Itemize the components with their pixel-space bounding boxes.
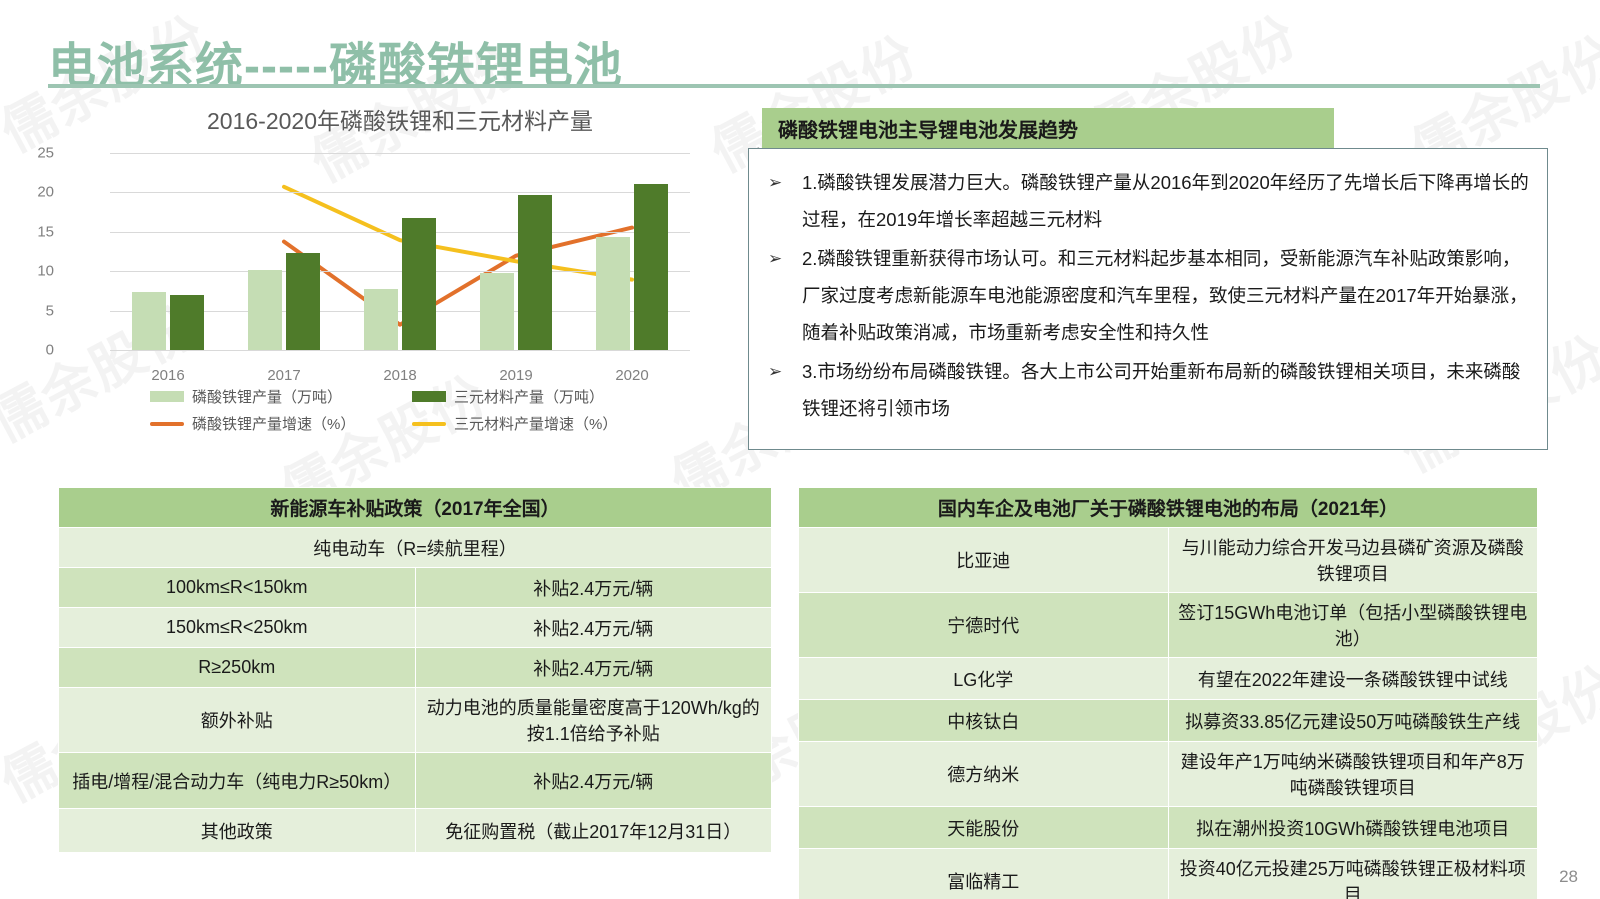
bullet-arrow-icon: ➢ — [762, 240, 802, 277]
legend-label: 三元材料产量（万吨） — [454, 386, 604, 407]
trend-bullet-text: 2.磷酸铁锂重新获得市场认可。和三元材料起步基本相同，受新能源汽车补贴政策影响，… — [802, 240, 1534, 351]
table-row: 其他政策免征购置税（截止2017年12月31日） — [59, 809, 772, 853]
policy-value-cell: 动力电池的质量能量密度高于120Wh/kg的按1.1倍给予补贴 — [415, 688, 772, 753]
table-row: 宁德时代签订15GWh电池订单（包括小型磷酸铁锂电池） — [799, 593, 1538, 658]
company-detail-cell: 投资40亿元投建25万吨磷酸铁锂正极材料项目 — [1168, 849, 1538, 899]
chart-bar — [132, 292, 166, 350]
chart-line — [284, 187, 632, 280]
trend-textbox-header: 磷酸铁锂电池主导锂电池发展趋势 — [762, 108, 1334, 148]
company-name-cell: LG化学 — [799, 658, 1169, 700]
chart-title: 2016-2020年磷酸铁锂和三元材料产量 — [120, 102, 680, 136]
trend-bullet: ➢2.磷酸铁锂重新获得市场认可。和三元材料起步基本相同，受新能源汽车补贴政策影响… — [762, 240, 1534, 351]
table-row: 插电/增程/混合动力车（纯电力R≥50km）补贴2.4万元/辆 — [59, 753, 772, 809]
company-detail-cell: 拟募资33.85亿元建设50万吨磷酸铁生产线 — [1168, 700, 1538, 742]
table-row: 100km≤R<150km补贴2.4万元/辆 — [59, 568, 772, 608]
trend-bullet-text: 3.市场纷纷布局磷酸铁锂。各大上市公司开始重新布局新的磷酸铁锂相关项目，未来磷酸… — [802, 353, 1534, 427]
table-row: R≥250km补贴2.4万元/辆 — [59, 648, 772, 688]
page-number: 28 — [1559, 867, 1578, 887]
lfp-layout-table: 国内车企及电池厂关于磷酸铁锂电池的布局（2021年）比亚迪与川能动力综合开发马边… — [798, 487, 1538, 899]
company-name-cell: 富临精工 — [799, 849, 1169, 899]
trend-bullet: ➢3.市场纷纷布局磷酸铁锂。各大上市公司开始重新布局新的磷酸铁锂相关项目，未来磷… — [762, 353, 1534, 427]
chart-bar — [634, 184, 668, 350]
company-name-cell: 宁德时代 — [799, 593, 1169, 658]
legend-swatch-icon — [412, 391, 446, 402]
subsidy-policy-table: 新能源车补贴政策（2017年全国）纯电动车（R=续航里程）100km≤R<150… — [58, 487, 772, 853]
chart-gridline — [110, 232, 690, 233]
table-row: 中核钛白拟募资33.85亿元建设50万吨磷酸铁生产线 — [799, 700, 1538, 742]
title-underline — [48, 84, 1540, 88]
legend-item[interactable]: 三元材料产量（万吨） — [412, 386, 662, 407]
legend-item[interactable]: 三元材料产量增速（%） — [412, 413, 662, 434]
company-detail-cell: 签订15GWh电池订单（包括小型磷酸铁锂电池） — [1168, 593, 1538, 658]
policy-label-cell: R≥250km — [59, 648, 416, 688]
legend-item[interactable]: 磷酸铁锂产量（万吨） — [150, 386, 400, 407]
company-detail-cell: 拟在潮州投资10GWh磷酸铁锂电池项目 — [1168, 807, 1538, 849]
chart-legend: 磷酸铁锂产量（万吨）三元材料产量（万吨）磷酸铁锂产量增速（%）三元材料产量增速（… — [150, 386, 670, 434]
chart-bar — [402, 218, 436, 350]
trend-bullet: ➢1.磷酸铁锂发展潜力巨大。磷酸铁锂产量从2016年到2020年经历了先增长后下… — [762, 164, 1534, 238]
x-axis-tick: 2016 — [151, 367, 184, 384]
y-axis-tick-left: 20 — [37, 184, 54, 201]
y-axis-tick-left: 15 — [37, 223, 54, 240]
company-name-cell: 天能股份 — [799, 807, 1169, 849]
bullet-arrow-icon: ➢ — [762, 353, 802, 390]
policy-value-cell: 补贴2.4万元/辆 — [415, 648, 772, 688]
table-right-title: 国内车企及电池厂关于磷酸铁锂电池的布局（2021年） — [799, 488, 1538, 528]
legend-swatch-icon — [150, 391, 184, 402]
policy-label-cell: 插电/增程/混合动力车（纯电力R≥50km） — [59, 753, 416, 809]
chart-bar — [480, 273, 514, 350]
table-row: 新能源车补贴政策（2017年全国） — [59, 488, 772, 528]
y-axis-tick-left: 0 — [46, 342, 54, 359]
y-axis-tick-left: 5 — [46, 302, 54, 319]
trend-textbox-body: ➢1.磷酸铁锂发展潜力巨大。磷酸铁锂产量从2016年到2020年经历了先增长后下… — [762, 164, 1534, 429]
table-row: 富临精工投资40亿元投建25万吨磷酸铁锂正极材料项目 — [799, 849, 1538, 899]
chart-bar — [286, 253, 320, 350]
table-row: 纯电动车（R=续航里程） — [59, 528, 772, 568]
table-row: 额外补贴动力电池的质量能量密度高于120Wh/kg的按1.1倍给予补贴 — [59, 688, 772, 753]
policy-value-cell: 补贴2.4万元/辆 — [415, 753, 772, 809]
table-row: 天能股份拟在潮州投资10GWh磷酸铁锂电池项目 — [799, 807, 1538, 849]
company-name-cell: 德方纳米 — [799, 742, 1169, 807]
x-axis-tick: 2017 — [267, 367, 300, 384]
y-axis-tick-left: 10 — [37, 263, 54, 280]
chart-bar — [248, 270, 282, 350]
table-row: 比亚迪与川能动力综合开发马边县磷矿资源及磷酸铁锂项目 — [799, 528, 1538, 593]
table-row: 150km≤R<250km补贴2.4万元/辆 — [59, 608, 772, 648]
policy-label-cell: 额外补贴 — [59, 688, 416, 753]
policy-value-cell: 补贴2.4万元/辆 — [415, 568, 772, 608]
x-axis-tick: 2019 — [499, 367, 532, 384]
policy-label-cell: 100km≤R<150km — [59, 568, 416, 608]
chart-plot-area: 0510152025-0.4-0.200.20.40.60.8120162017… — [110, 153, 690, 350]
trend-bullet-text: 1.磷酸铁锂发展潜力巨大。磷酸铁锂产量从2016年到2020年经历了先增长后下降… — [802, 164, 1534, 238]
chart-bar — [170, 295, 204, 350]
slide-canvas: 儒余股份儒余股份儒余股份儒余股份儒余股份儒余股份儒余股份儒余股份儒余股份儒余股份… — [0, 0, 1600, 899]
policy-value-cell: 免征购置税（截止2017年12月31日） — [415, 809, 772, 853]
policy-label-cell: 150km≤R<250km — [59, 608, 416, 648]
table-row: LG化学有望在2022年建设一条磷酸铁锂中试线 — [799, 658, 1538, 700]
company-name-cell: 中核钛白 — [799, 700, 1169, 742]
y-axis-tick-left: 25 — [37, 145, 54, 162]
company-detail-cell: 与川能动力综合开发马边县磷矿资源及磷酸铁锂项目 — [1168, 528, 1538, 593]
chart-bar — [364, 289, 398, 350]
chart-gridline — [110, 192, 690, 193]
legend-item[interactable]: 磷酸铁锂产量增速（%） — [150, 413, 400, 434]
chart-bar — [596, 237, 630, 350]
bullet-arrow-icon: ➢ — [762, 164, 802, 201]
x-axis-tick: 2018 — [383, 367, 416, 384]
chart-gridline — [110, 153, 690, 154]
legend-line-icon — [412, 422, 446, 426]
company-detail-cell: 有望在2022年建设一条磷酸铁锂中试线 — [1168, 658, 1538, 700]
table-row: 德方纳米建设年产1万吨纳米磷酸铁锂项目和年产8万吨磷酸铁锂项目 — [799, 742, 1538, 807]
company-name-cell: 比亚迪 — [799, 528, 1169, 593]
table-left-title: 新能源车补贴政策（2017年全国） — [59, 488, 772, 528]
legend-line-icon — [150, 422, 184, 426]
trend-textbox: 磷酸铁锂电池主导锂电池发展趋势 ➢1.磷酸铁锂发展潜力巨大。磷酸铁锂产量从201… — [748, 108, 1548, 450]
policy-label-cell: 其他政策 — [59, 809, 416, 853]
company-detail-cell: 建设年产1万吨纳米磷酸铁锂项目和年产8万吨磷酸铁锂项目 — [1168, 742, 1538, 807]
legend-label: 磷酸铁锂产量增速（%） — [192, 413, 355, 434]
production-chart: 0510152025-0.4-0.200.20.40.60.8120162017… — [58, 142, 738, 387]
table-row: 国内车企及电池厂关于磷酸铁锂电池的布局（2021年） — [799, 488, 1538, 528]
chart-bar — [518, 195, 552, 350]
x-axis-tick: 2020 — [615, 367, 648, 384]
policy-value-cell: 补贴2.4万元/辆 — [415, 608, 772, 648]
legend-label: 磷酸铁锂产量（万吨） — [192, 386, 342, 407]
table-left-subheader: 纯电动车（R=续航里程） — [59, 528, 772, 568]
legend-label: 三元材料产量增速（%） — [454, 413, 617, 434]
chart-gridline — [110, 350, 690, 351]
